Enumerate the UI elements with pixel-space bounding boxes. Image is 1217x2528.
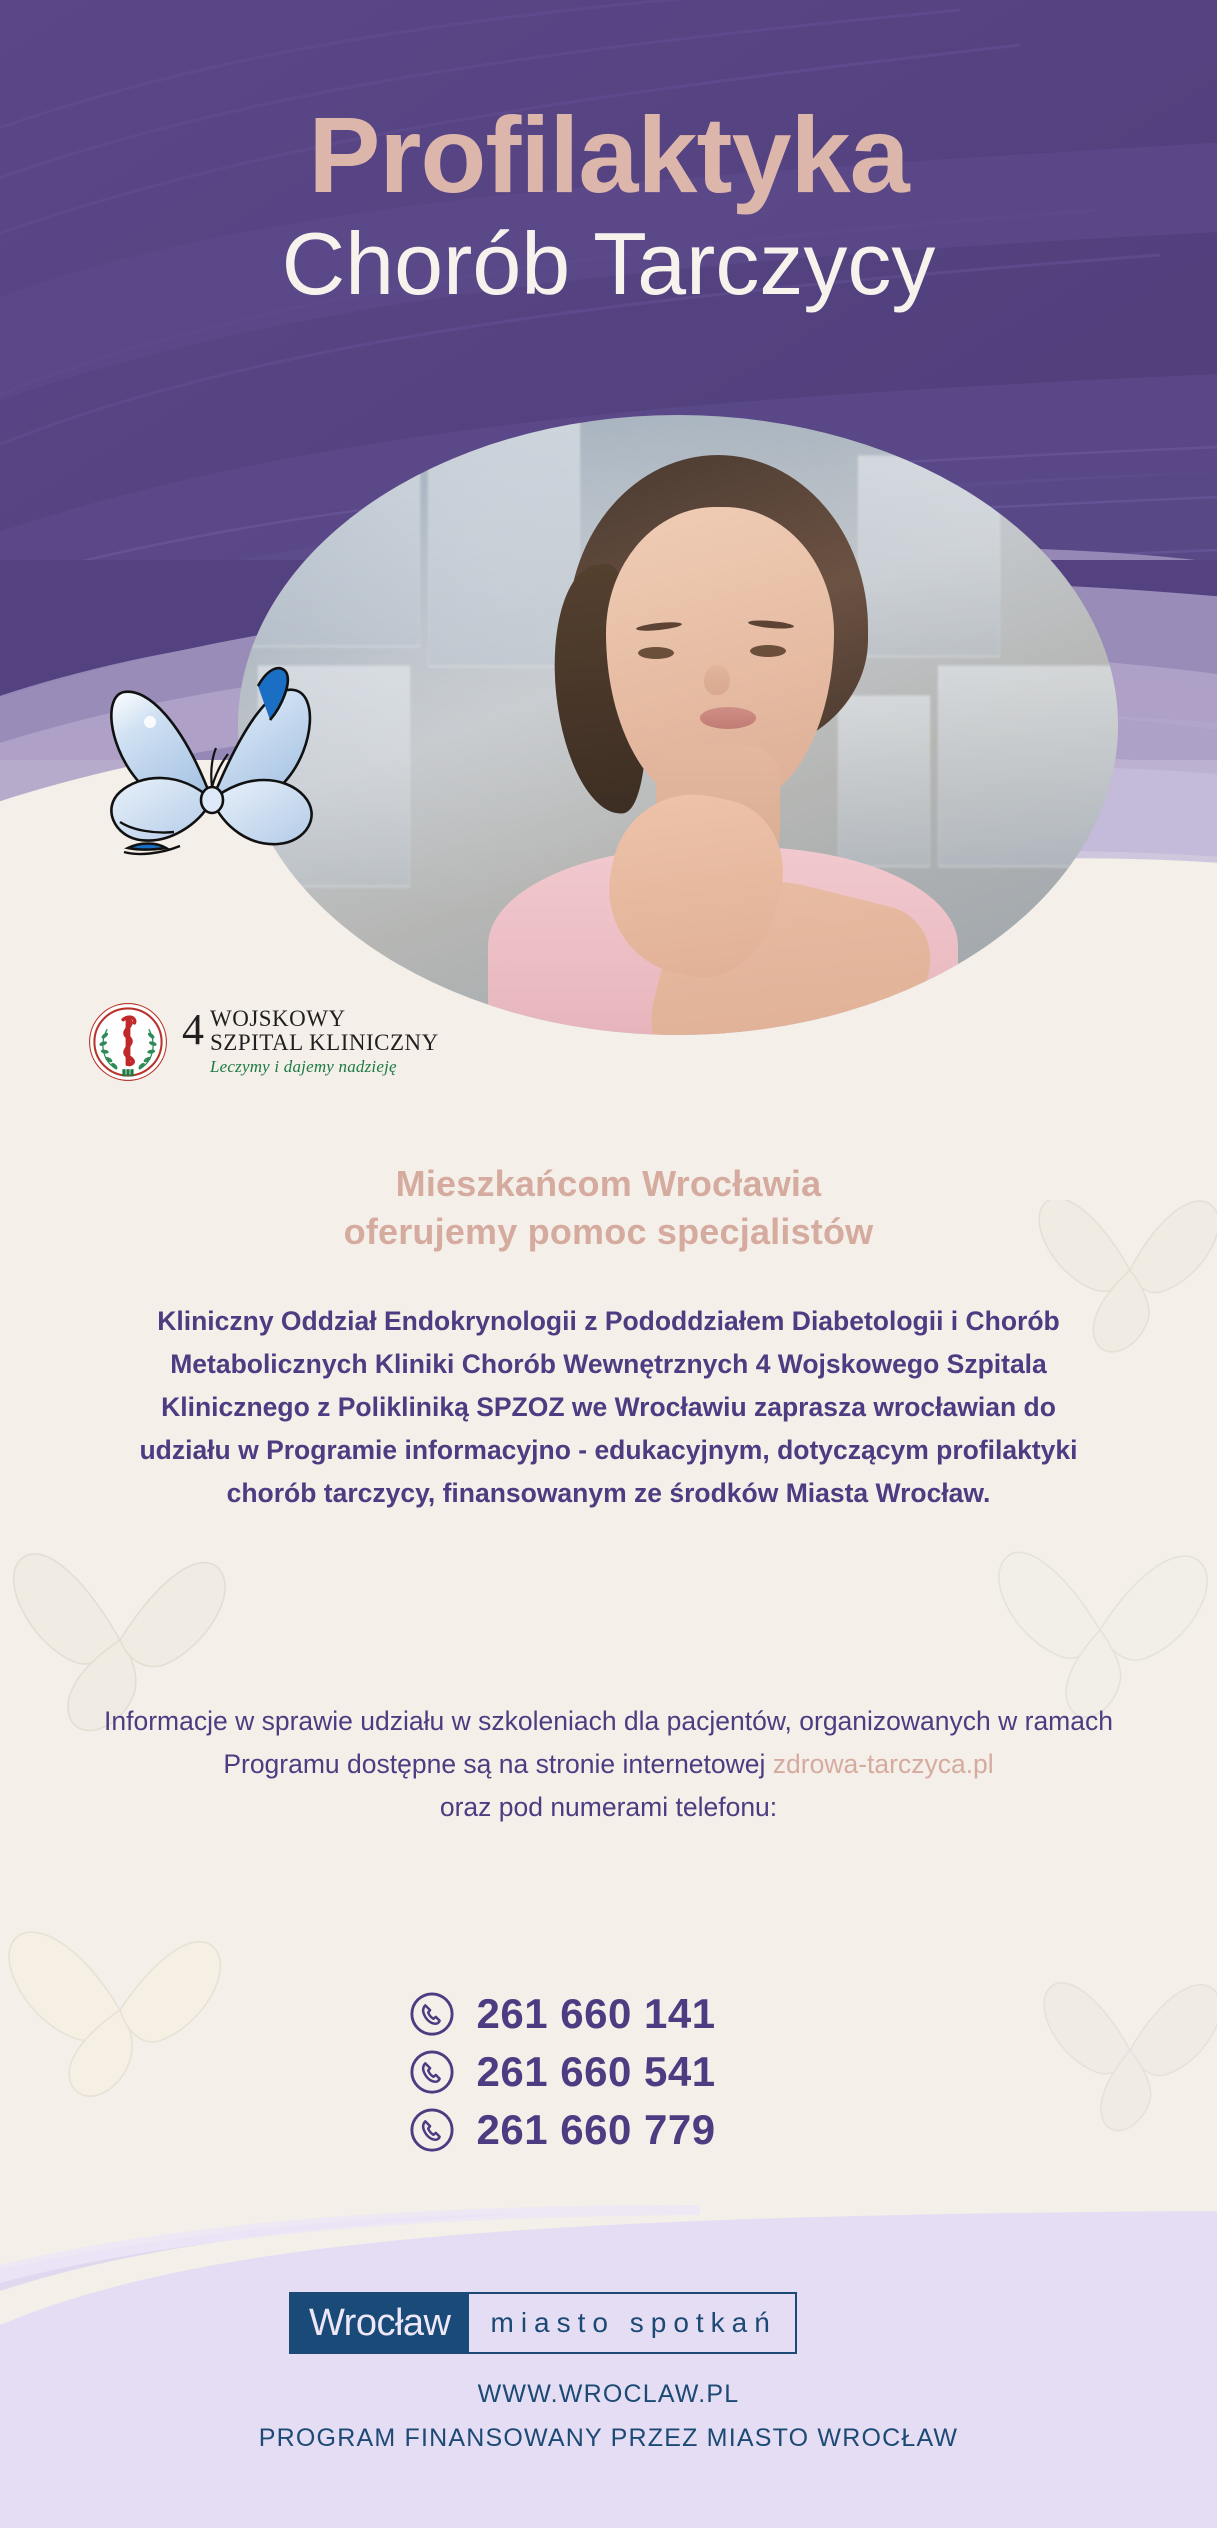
phone-in-circle-icon: [409, 2049, 455, 2095]
phone-in-circle-icon: [409, 1991, 455, 2037]
hospital-logo-text: 4 WOJSKOWY SZPITAL KLINICZNY Leczymy i d…: [182, 1007, 439, 1077]
asclepius-rod-laurel-seal-icon: [88, 1002, 168, 1082]
section-heading: Mieszkańcom Wrocławia oferujemy pomoc sp…: [0, 1160, 1217, 1255]
footer-wave-pattern: [0, 2205, 1217, 2528]
hospital-logo-line2: SZPITAL KLINICZNY: [210, 1031, 439, 1055]
photo-oval-frame: [238, 415, 1118, 1035]
wroclaw-city-logo: Wrocław miasto spotkań: [289, 2292, 797, 2354]
phone-row[interactable]: 261 660 779: [409, 2106, 809, 2154]
page-title: Profilaktyka: [0, 100, 1217, 210]
phone-list: 261 660 141 261 660 541 261 660 779: [0, 1990, 1217, 2154]
body-paragraph-2-outro: oraz pod numerami telefonu:: [440, 1792, 777, 1822]
phone-number[interactable]: 261 660 541: [477, 2048, 716, 2096]
poster-title-block: Profilaktyka Chorób Tarczycy: [0, 100, 1217, 313]
website-link[interactable]: zdrowa-tarczyca.pl: [773, 1749, 994, 1779]
phone-row[interactable]: 261 660 141: [409, 1990, 809, 2038]
hospital-logo-line1: WOJSKOWY: [210, 1007, 439, 1031]
thyroid-butterfly-icon: [62, 650, 362, 880]
wroclaw-logo-slogan: miasto spotkań: [469, 2294, 795, 2352]
footer-program-note: PROGRAM FINANSOWANY PRZEZ MIASTO WROCŁAW: [0, 2424, 1217, 2453]
section-heading-line2: oferujemy pomoc specjalistów: [0, 1208, 1217, 1256]
wroclaw-logo-name: Wrocław: [291, 2294, 469, 2352]
photo-background: [238, 415, 1118, 1035]
footer-band: [0, 2205, 1217, 2528]
hospital-logo: 4 WOJSKOWY SZPITAL KLINICZNY Leczymy i d…: [88, 1002, 439, 1082]
hospital-logo-motto: Leczymy i dajemy nadzieję: [210, 1057, 439, 1077]
body-paragraph-2: Informacje w sprawie udziału w szkolenia…: [98, 1700, 1119, 1829]
body-paragraph-1: Kliniczny Oddział Endokrynologii z Podod…: [118, 1300, 1099, 1515]
poster-root: Profilaktyka Chorób Tarczycy: [0, 0, 1217, 2528]
phone-row[interactable]: 261 660 541: [409, 2048, 809, 2096]
page-subtitle: Chorób Tarczycy: [0, 216, 1217, 313]
phone-number[interactable]: 261 660 141: [477, 1990, 716, 2038]
section-heading-line1: Mieszkańcom Wrocławia: [0, 1160, 1217, 1208]
phone-number[interactable]: 261 660 779: [477, 2106, 716, 2154]
hospital-logo-number: 4: [182, 1009, 204, 1051]
footer-website[interactable]: WWW.WROCLAW.PL: [0, 2380, 1217, 2409]
phone-in-circle-icon: [409, 2107, 455, 2153]
